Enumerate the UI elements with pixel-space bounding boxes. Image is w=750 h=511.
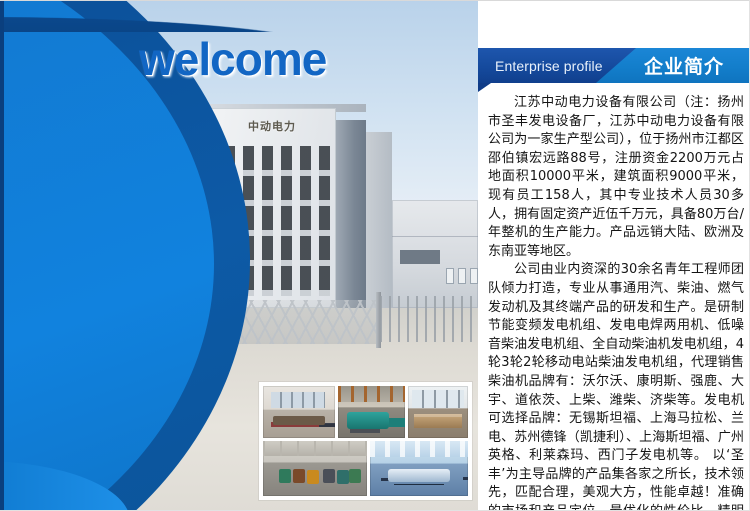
factory-hall-window xyxy=(470,268,478,284)
photo-open-office xyxy=(408,386,468,438)
enterprise-profile-panel: Enterprise profile 企业简介 江苏中动电力设备有限公司（注：扬… xyxy=(478,0,750,511)
profile-paragraph-1: 江苏中动电力设备有限公司（注：扬州市圣丰发电设备厂，江苏中动电力设备有限公司为一… xyxy=(488,94,744,261)
navy-top-band xyxy=(0,0,478,32)
profile-paragraph-2: 公司由业内资深的30余名青年工程师团队倾力打造，专业从事通用汽、柴油、燃气发动机… xyxy=(488,261,744,511)
factory-hall-window xyxy=(446,268,454,284)
building-roof-sign-text: 中动电力 xyxy=(248,118,296,134)
slide-canvas: 中动电力 江苏中动电力设备有限公司 Zhongdong Power Equipm… xyxy=(0,0,750,511)
photo-conference-hall xyxy=(370,441,468,496)
tower-window-column xyxy=(281,146,292,296)
company-banner-image: 中动电力 江苏中动电力设备有限公司 Zhongdong Power Equipm… xyxy=(0,0,478,511)
office-tower-rear-wing xyxy=(366,132,392,308)
office-tower-side-wall xyxy=(336,120,366,308)
perimeter-fence xyxy=(380,296,478,342)
tower-window-column xyxy=(300,146,311,296)
profile-header-tabs: Enterprise profile 企业简介 xyxy=(478,48,750,83)
tower-window-column xyxy=(262,146,273,296)
photo-meeting-room xyxy=(263,386,335,438)
factory-hall-louvre xyxy=(400,250,440,264)
photo-genset-lineup xyxy=(263,441,367,496)
profile-body-text: 江苏中动电力设备有限公司（注：扬州市圣丰发电设备厂，江苏中动电力设备有限公司为一… xyxy=(488,94,744,511)
tower-window-column xyxy=(319,146,330,296)
slide-top-edge xyxy=(0,0,750,1)
photo-collage xyxy=(259,382,472,500)
photo-generator-workshop xyxy=(338,386,405,438)
welcome-heading: welcome xyxy=(139,36,326,82)
tab-tail-notch xyxy=(478,83,491,92)
left-edge-strip xyxy=(0,0,4,511)
factory-hall-band xyxy=(392,236,478,237)
factory-hall-window xyxy=(458,268,466,284)
